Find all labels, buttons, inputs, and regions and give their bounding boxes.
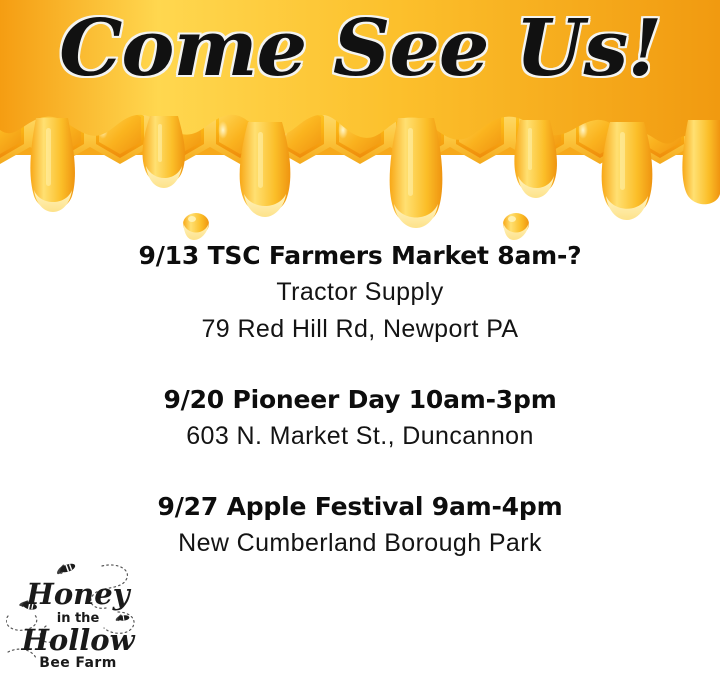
logo-word-hollow: Hollow: [20, 623, 135, 657]
event-heading: 9/13 TSC Farmers Market 8am-?: [0, 238, 720, 274]
logo-svg: Honey in the Hollow Bee Farm: [6, 560, 156, 672]
event-detail-line: 79 Red Hill Rd, Newport PA: [0, 311, 720, 348]
honey-drip-layer: [0, 0, 720, 240]
event-detail-line: 603 N. Market St., Duncannon: [0, 418, 720, 455]
logo-word-honey: Honey: [25, 577, 131, 611]
event-detail-line: Tractor Supply: [0, 274, 720, 311]
logo-word-beefarm: Bee Farm: [39, 655, 116, 671]
event-detail-line: New Cumberland Borough Park: [0, 525, 720, 562]
event-item: 9/13 TSC Farmers Market 8am-? Tractor Su…: [0, 238, 720, 348]
event-heading: 9/20 Pioneer Day 10am-3pm: [0, 382, 720, 418]
event-item: 9/20 Pioneer Day 10am-3pm 603 N. Market …: [0, 382, 720, 455]
brand-logo: Honey in the Hollow Bee Farm: [6, 560, 156, 672]
honey-droplet: [503, 213, 529, 240]
event-item: 9/27 Apple Festival 9am-4pm New Cumberla…: [0, 489, 720, 562]
event-heading: 9/27 Apple Festival 9am-4pm: [0, 489, 720, 525]
honey-banner: Come See Us!: [0, 0, 720, 240]
honey-droplet: [183, 213, 209, 240]
poster-canvas: Come See Us! 9/13 TSC Farmers Market 8am…: [0, 0, 720, 675]
event-list: 9/13 TSC Farmers Market 8am-? Tractor Su…: [0, 238, 720, 562]
